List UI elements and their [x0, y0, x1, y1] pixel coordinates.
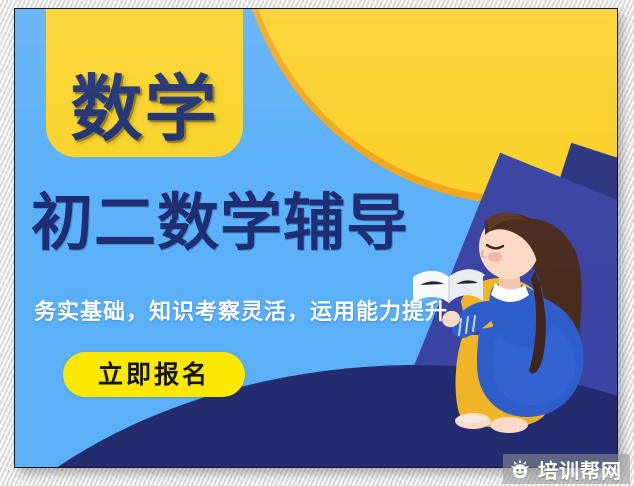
enroll-now-button-label: 立即报名: [98, 362, 210, 387]
page-title: 初二数学辅导: [31, 192, 409, 254]
smiley-sun-icon: [509, 458, 531, 480]
subject-badge: 数学: [46, 8, 243, 157]
watermark-text: 培训帮网: [538, 455, 622, 484]
subject-badge-label: 数学: [70, 73, 218, 145]
top-left-blue-strip: [15, 9, 45, 21]
poster-page: 数学: [0, 0, 634, 486]
page-subtitle: 务实基础，知识考察灵活，运用能力提升: [34, 302, 448, 324]
promo-card: 数学: [14, 8, 618, 468]
watermark: 培训帮网: [503, 454, 630, 484]
enroll-now-button[interactable]: 立即报名: [63, 352, 245, 397]
